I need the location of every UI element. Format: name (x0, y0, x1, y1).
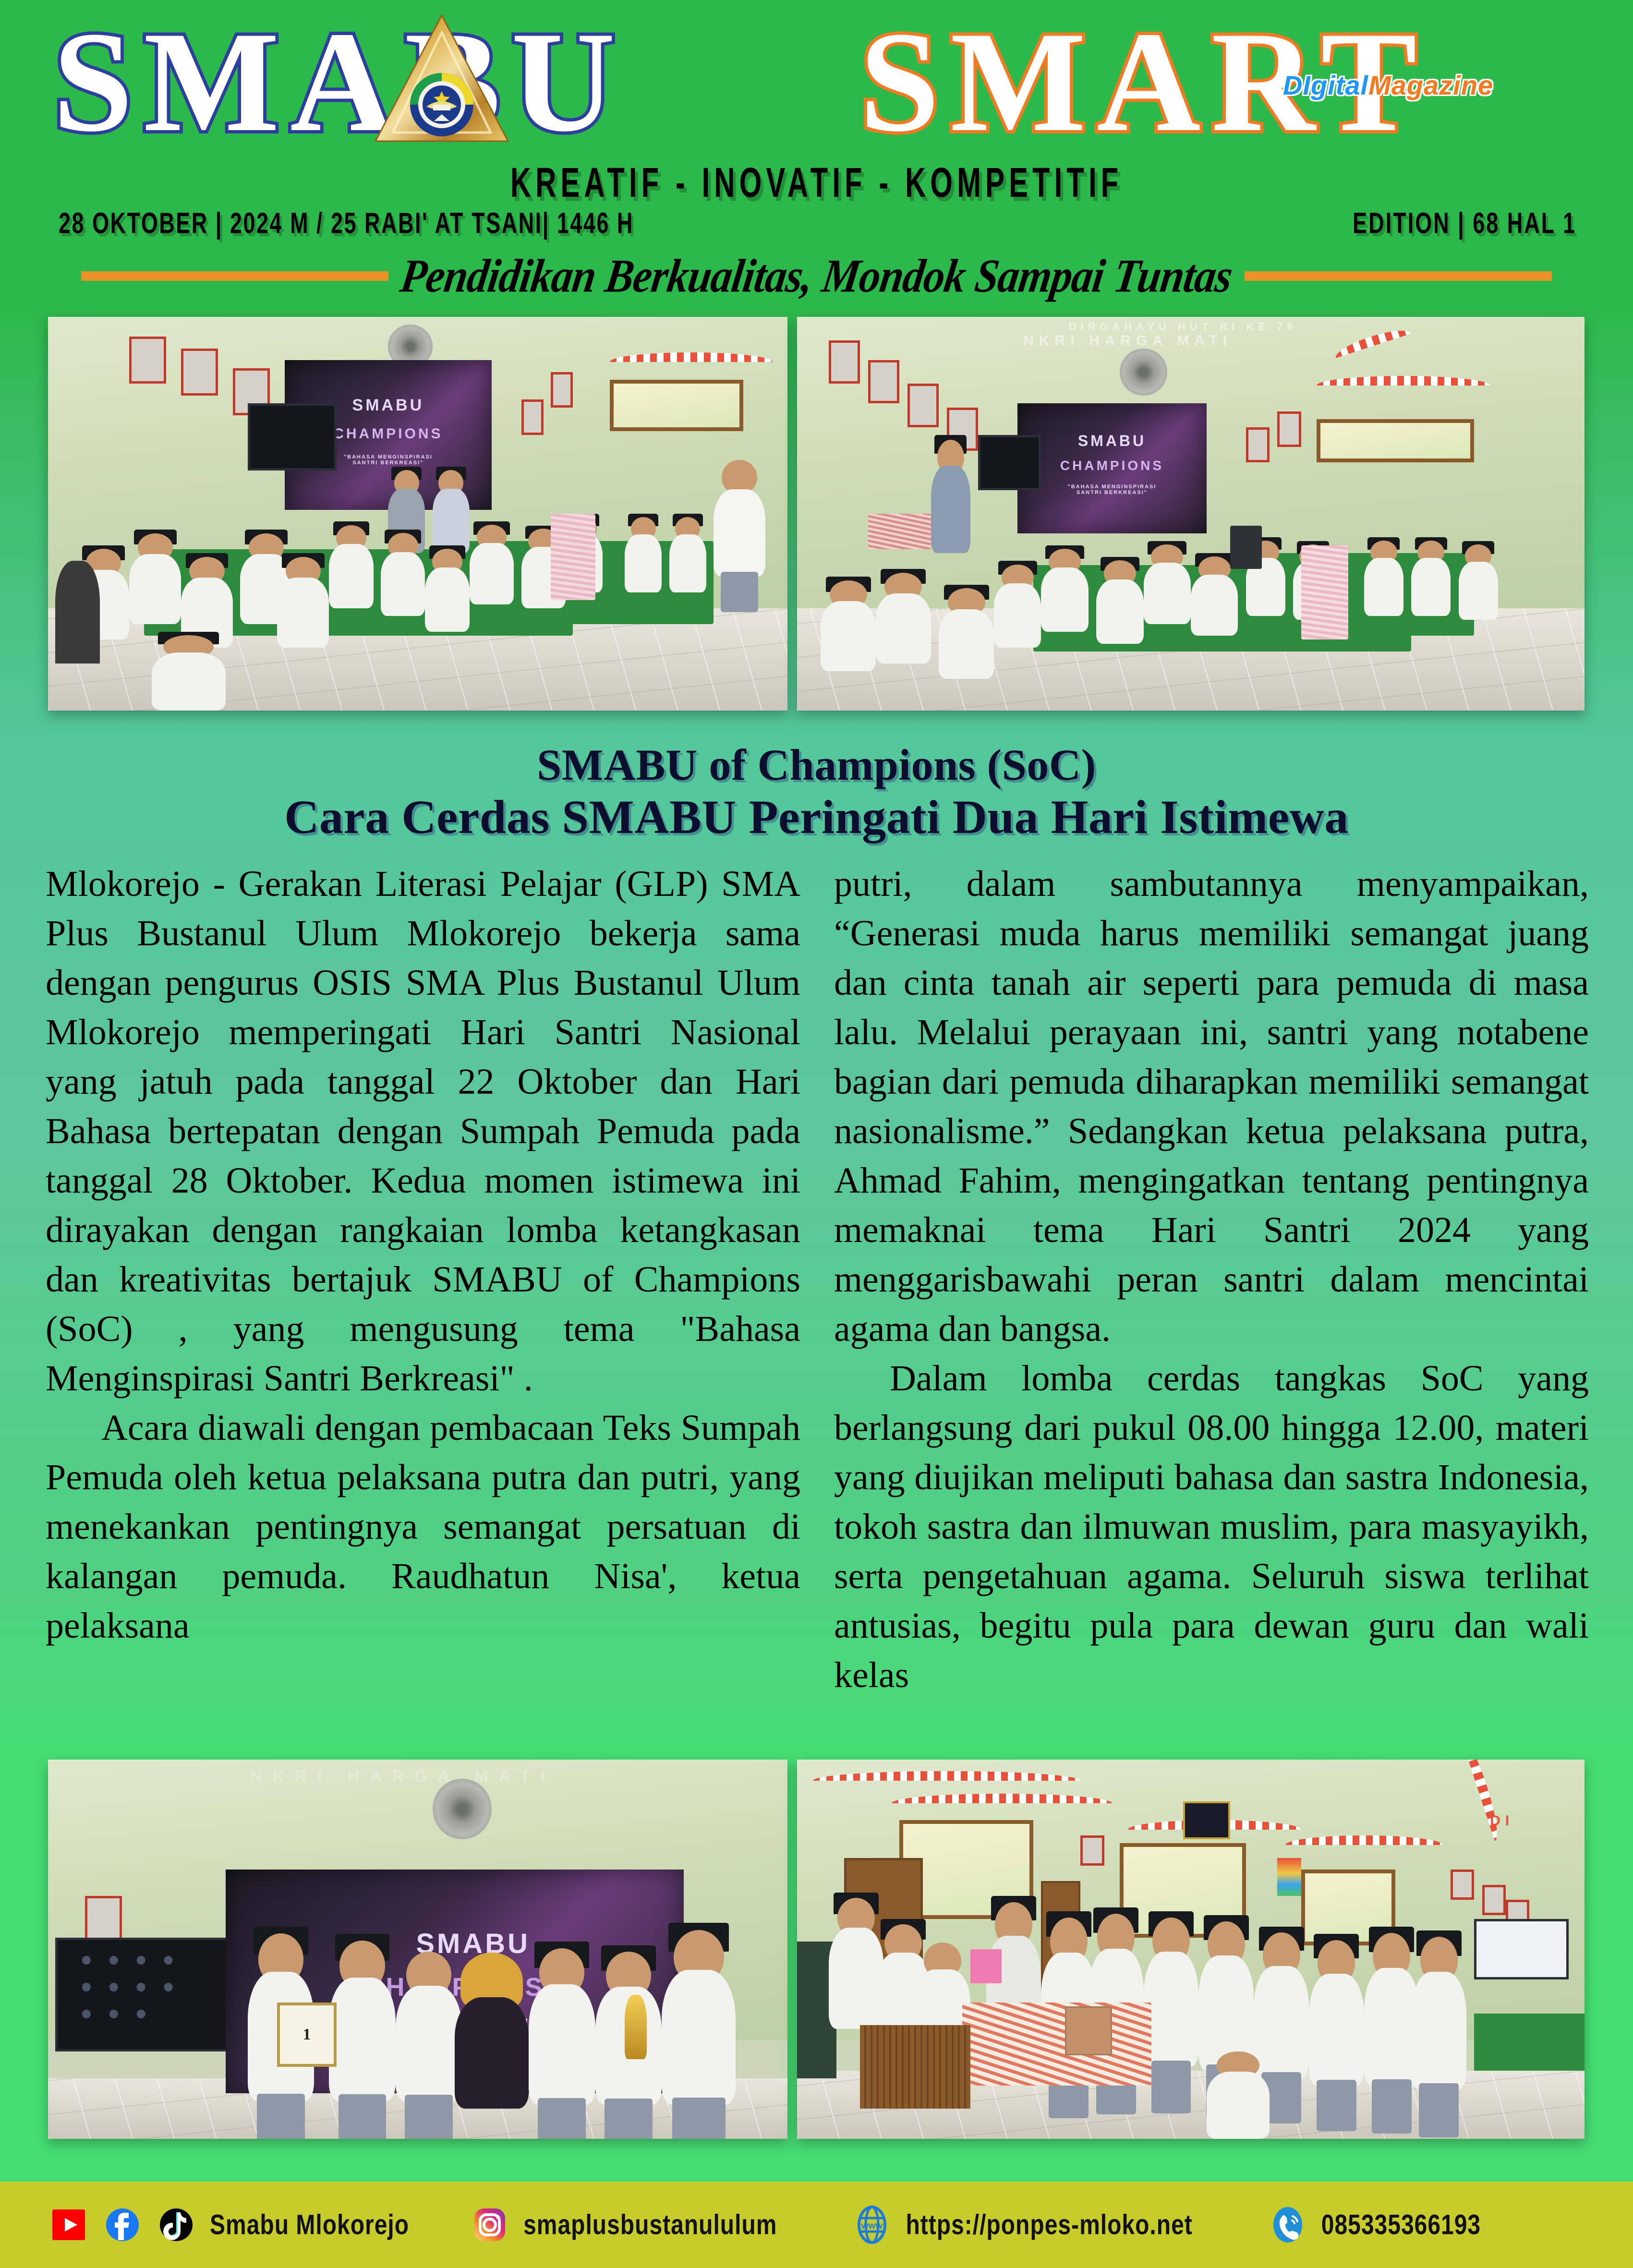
digital-word: DIgital (1283, 70, 1368, 100)
footer-item-youtube[interactable] (46, 2202, 92, 2248)
digital-magazine-label: DIgitalMagazine (1283, 70, 1493, 101)
footer-item-tiktok[interactable]: Smabu Mlokorejo (153, 2202, 409, 2248)
motto-text: Pendidikan Berkualitas, Mondok Sampai Tu… (397, 249, 1235, 303)
footer-label-phone: 085335366193 (1321, 2208, 1481, 2241)
photo-soc-winners-group: NKRI HARGA MATI SMABU CHAMPIONS "BAHASA … (48, 1760, 787, 2139)
paragraph: putri, dalam sambutannya menyampaikan, “… (834, 859, 1589, 1354)
motto-rule-right (1245, 271, 1552, 281)
photo-soc-opening-ceremony-left: SMABU CHAMPIONS "BAHASA MENGINSPIRASISAN… (48, 317, 787, 711)
issue-date: 28 OKTOBER | 2024 M / 25 RABI' AT TSANI|… (59, 206, 634, 240)
motto-bar: Pendidikan Berkualitas, Mondok Sampai Tu… (0, 250, 1633, 302)
article-body: Mlokorejo - Gerakan Literasi Pelajar (GL… (46, 859, 1589, 1728)
paragraph: Dalam lomba cerdas tangkas SoC yang berl… (834, 1354, 1589, 1700)
youtube-icon[interactable] (46, 2202, 92, 2248)
instagram-icon[interactable] (467, 2202, 513, 2248)
tiktok-icon[interactable] (153, 2202, 199, 2248)
masthead: SMABU SMART (0, 0, 1633, 158)
paragraph: Acara diawali dengan pembacaan Teks Sump… (46, 1403, 800, 1651)
headline-line-1: SMABU of Champions (SoC) (0, 739, 1633, 790)
footer-item-instagram[interactable]: smaplusbustanululum (467, 2202, 777, 2248)
footer-label-instagram: smaplusbustanululum (523, 2208, 777, 2241)
paragraph: Mlokorejo - Gerakan Literasi Pelajar (GL… (46, 859, 800, 1403)
article-headline: SMABU of Champions (SoC) Cara Cerdas SMA… (0, 739, 1633, 844)
edition-and-page: EDITION | 68 HAL 1 (1353, 206, 1576, 240)
school-crest-triangle-logo (370, 11, 514, 146)
footer-label-website: https://ponpes-mloko.net (906, 2208, 1192, 2241)
svg-text:www: www (861, 2221, 883, 2231)
article-column-right: putri, dalam sambutannya menyampaikan, “… (834, 859, 1589, 1728)
photo-soc-registration-activity: DI (797, 1760, 1585, 2139)
masthead-title-left: SMABU (53, 10, 626, 154)
dateline-bar: 28 OKTOBER | 2024 M / 25 RABI' AT TSANI|… (0, 206, 1633, 240)
magazine-word: Magazine (1368, 70, 1493, 100)
motto-rule-left (81, 271, 388, 281)
footer-contact-bar: Smabu Mlokorejo smaplusbustanululum (0, 2182, 1633, 2268)
phone-icon[interactable] (1265, 2202, 1311, 2248)
article-column-left: Mlokorejo - Gerakan Literasi Pelajar (GL… (46, 859, 800, 1728)
masthead-tagline: KREATIF - INOVATIF - KOMPETITIF (0, 158, 1633, 206)
footer-label-tiktok: Smabu Mlokorejo (210, 2208, 409, 2241)
footer-item-website[interactable]: www https://ponpes-mloko.net (849, 2202, 1192, 2248)
magazine-page: SMABU SMART (0, 0, 1633, 2268)
footer-item-phone[interactable]: 085335366193 (1265, 2202, 1481, 2248)
photo-soc-opening-ceremony-right: NKRI HARGA MATI DIRGAHAYU HUT RI KE 79 S… (797, 317, 1585, 711)
footer-item-facebook[interactable] (99, 2202, 145, 2248)
website-icon[interactable]: www (849, 2202, 895, 2248)
facebook-icon[interactable] (99, 2202, 145, 2248)
headline-line-2: Cara Cerdas SMABU Peringati Dua Hari Ist… (0, 790, 1633, 844)
